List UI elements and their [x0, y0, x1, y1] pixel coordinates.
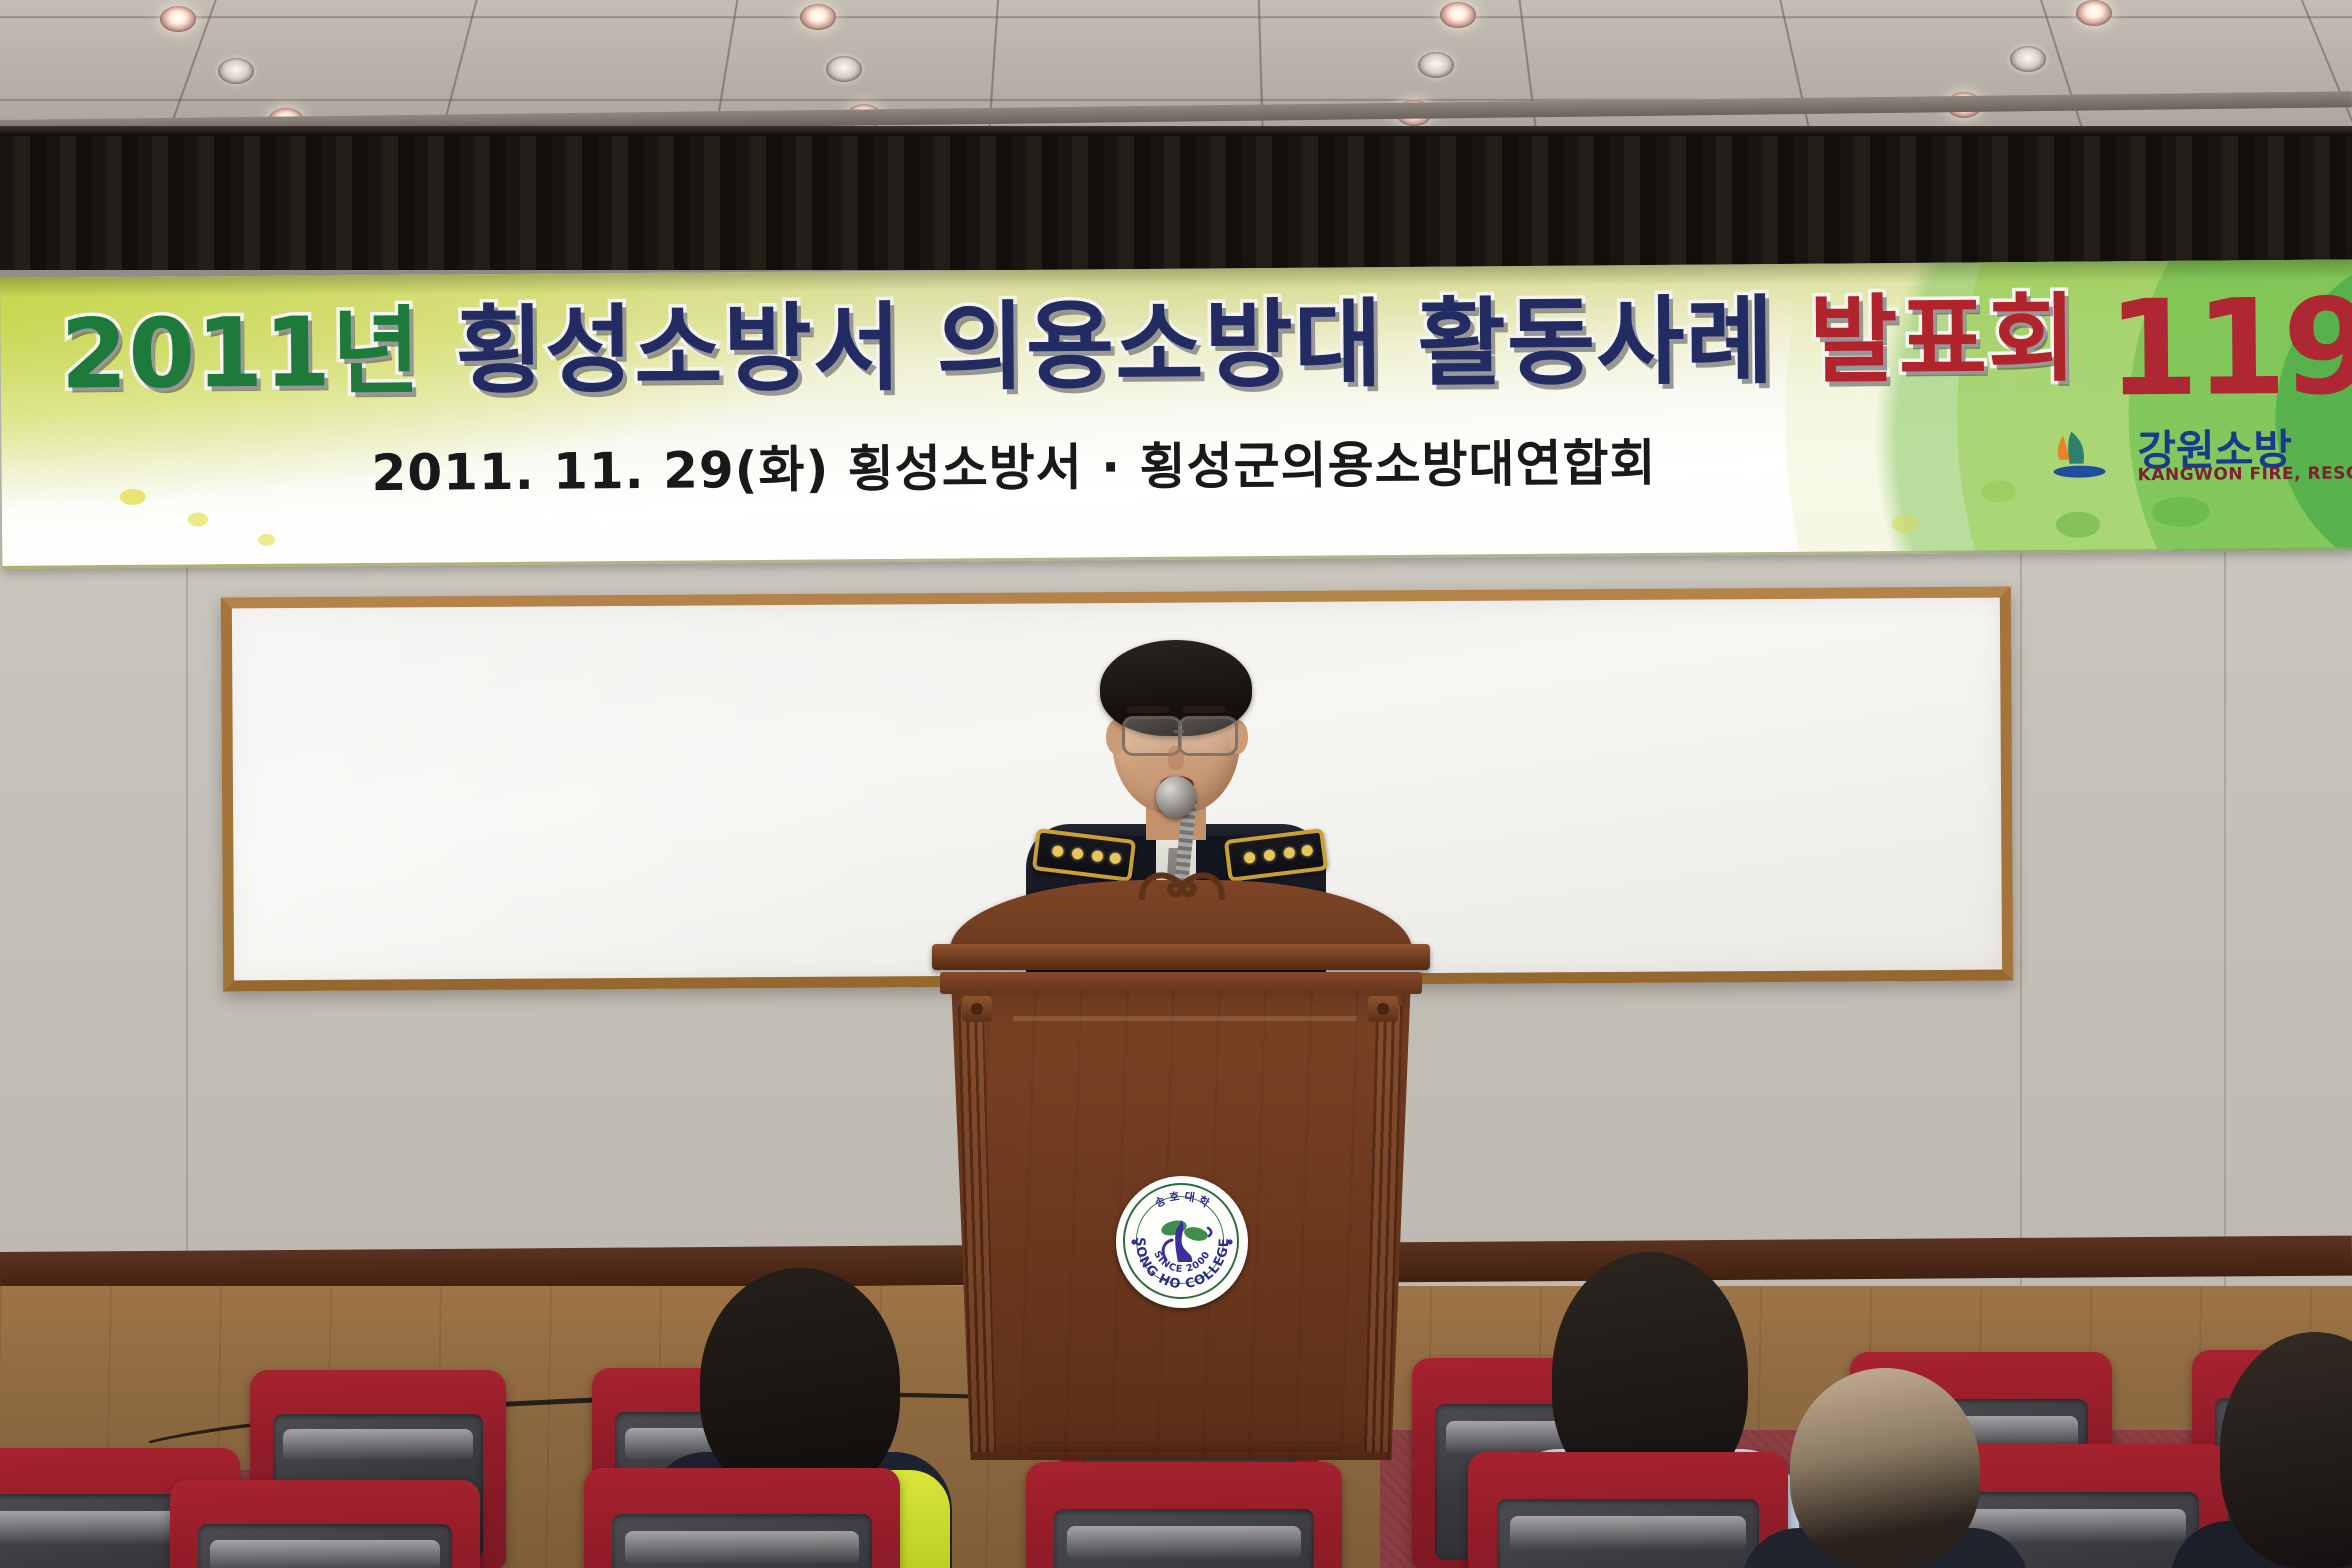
- banner-title-event: 발표회: [1809, 283, 2078, 397]
- banner-title-year: 2011년: [60, 296, 421, 411]
- songho-college-emblem: 송 호 대 학 SINCE 2000 SONG HO COLLEGE: [1116, 1176, 1248, 1308]
- ceiling-downlight: [160, 6, 196, 32]
- banner-title-org: 횡성소방서 의용소방대: [455, 288, 1383, 407]
- podium-capital-right: [1368, 996, 1398, 1022]
- ceiling-downlight: [1440, 2, 1476, 28]
- curtain-top-edge: [0, 126, 2352, 136]
- ceiling-downlight: [800, 4, 836, 30]
- podium-capital-left: [962, 996, 992, 1022]
- banner-dot: [2152, 497, 2210, 527]
- banner-dot: [1982, 480, 2016, 502]
- kangwon-fire-name-en: KANGWON FIRE, RESCUE: [2138, 463, 2352, 485]
- banner-dot: [1892, 515, 1918, 533]
- auditorium-chair[interactable]: [1468, 1452, 1788, 1568]
- podium: 송 호 대 학 SINCE 2000 SONG HO COLLEGE: [940, 880, 1422, 1460]
- auditorium-photo: 2011년 횡성소방서 의용소방대 활동사례 발표회 2011. 11. 29(…: [0, 0, 2352, 1568]
- ceiling-downlight: [218, 58, 254, 84]
- podium-scroll-ornament-icon: [1136, 868, 1228, 900]
- banner-title: 2011년 횡성소방서 의용소방대 활동사례 발표회: [60, 279, 2151, 413]
- eyeglasses-bridge: [1174, 730, 1184, 733]
- nose: [1168, 746, 1184, 770]
- banner-dot: [2056, 512, 2100, 538]
- banner-dot: [188, 512, 208, 526]
- eyeglasses-lens-right: [1178, 716, 1238, 756]
- auditorium-chair[interactable]: [170, 1480, 480, 1568]
- svg-text:송 호 대 학: 송 호 대 학: [1153, 1189, 1212, 1210]
- kangwon-fire-logo: 강원소방 KANGWON FIRE, RESCUE: [2045, 418, 2346, 500]
- kangwon-fire-mark-icon: [2045, 425, 2129, 482]
- audience-head: [1790, 1368, 1980, 1568]
- auditorium-chair[interactable]: [584, 1468, 900, 1568]
- emblem-artwork-icon: 송 호 대 학 SINCE 2000 SONG HO COLLEGE: [1116, 1176, 1248, 1308]
- banner-subtitle: 2011. 11. 29(화) 횡성소방서 · 횡성군의용소방대연합회: [371, 423, 1657, 505]
- podium-top-rail: [932, 944, 1430, 970]
- banner-dot: [120, 489, 146, 505]
- event-banner: 2011년 횡성소방서 의용소방대 활동사례 발표회 2011. 11. 29(…: [0, 260, 2352, 569]
- audience-head: [2220, 1332, 2352, 1568]
- eyebrow-left: [1126, 706, 1170, 713]
- ceiling-downlight: [2076, 0, 2112, 26]
- ceiling-downlight: [826, 56, 862, 82]
- microphone-icon: [1156, 776, 1196, 818]
- auditorium-chair[interactable]: [1026, 1462, 1342, 1568]
- ceiling-downlight: [1418, 52, 1454, 78]
- emergency-number-119: 119: [2107, 281, 2352, 415]
- audience-head: [700, 1268, 900, 1498]
- banner-title-topic: 활동사례: [1417, 285, 1775, 400]
- eyebrow-right: [1182, 706, 1226, 713]
- banner-dot: [258, 534, 275, 546]
- ceiling-downlight: [2010, 46, 2046, 72]
